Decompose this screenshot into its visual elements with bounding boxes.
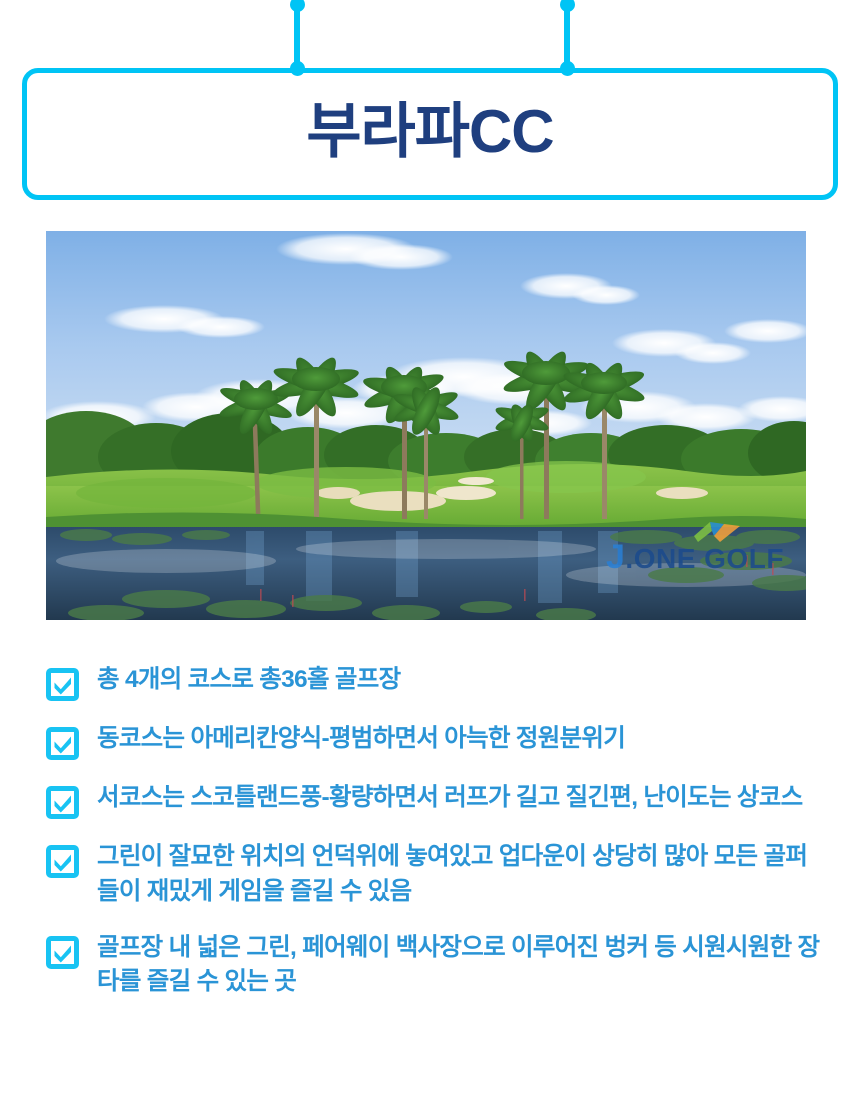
list-item-label: 서코스는 스코틀랜드풍-황량하면서 러프가 길고 질긴편, 난이도는 상코스 xyxy=(97,778,802,816)
list-item: 골프장 내 넓은 그린, 페어웨이 백사장으로 이루어진 벙커 등 시원시원한 … xyxy=(46,928,821,1001)
feature-list: 총 4개의 코스로 총36홀 골프장 동코스는 아메리칸양식-평범하면서 아늑한… xyxy=(46,660,821,1000)
check-square-icon xyxy=(46,845,79,878)
hanger-pin-left xyxy=(294,0,300,72)
check-square-icon xyxy=(46,786,79,819)
list-item-label: 그린이 잘묘한 위치의 언덕위에 놓여있고 업다운이 상당히 많아 모든 골퍼들… xyxy=(97,837,821,910)
list-item: 동코스는 아메리칸양식-평범하면서 아늑한 정원분위기 xyxy=(46,719,821,760)
golf-course-photo: J.ONE GOLF xyxy=(46,231,806,620)
list-item: 총 4개의 코스로 총36홀 골프장 xyxy=(46,660,821,701)
hanger-pin-right xyxy=(564,0,570,72)
page-title: 부라파CC xyxy=(306,102,553,162)
photo-canvas xyxy=(46,231,806,620)
check-square-icon xyxy=(46,936,79,969)
list-item: 서코스는 스코틀랜드풍-황량하면서 러프가 길고 질긴편, 난이도는 상코스 xyxy=(46,778,821,819)
title-card: 부라파CC xyxy=(22,68,838,200)
list-item-label: 총 4개의 코스로 총36홀 골프장 xyxy=(97,660,400,698)
list-item-label: 동코스는 아메리칸양식-평범하면서 아늑한 정원분위기 xyxy=(97,719,625,757)
list-item: 그린이 잘묘한 위치의 언덕위에 놓여있고 업다운이 상당히 많아 모든 골퍼들… xyxy=(46,837,821,910)
list-item-label: 골프장 내 넓은 그린, 페어웨이 백사장으로 이루어진 벙커 등 시원시원한 … xyxy=(97,928,821,1001)
check-square-icon xyxy=(46,668,79,701)
check-square-icon xyxy=(46,727,79,760)
